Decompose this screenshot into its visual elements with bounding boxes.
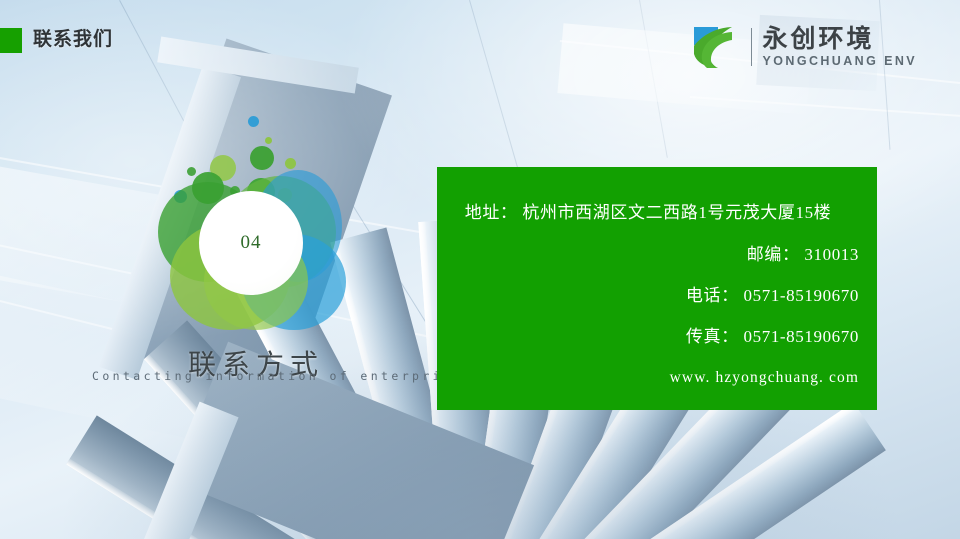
decor-bubble [265, 137, 272, 144]
logo-divider [751, 28, 752, 66]
company-logo: 永创环境 YONGCHUANG ENV [688, 22, 917, 72]
contact-website[interactable]: www. hzyongchuang. com [437, 368, 859, 388]
decor-bubble [187, 167, 196, 176]
header-accent-marker-icon [0, 28, 22, 53]
badge-core-circle: 04 [199, 191, 303, 295]
badge-number: 04 [241, 232, 262, 254]
contact-info-panel: 地址： 杭州市西湖区文二西路1号元茂大厦15楼 邮编： 310013 电话： 0… [437, 167, 877, 410]
page-title: 联系我们 [33, 27, 113, 53]
logo-wordmark: 永创环境 YONGCHUANG ENV [763, 26, 917, 68]
yongchuang-leaf-logo-icon [688, 24, 744, 70]
contact-postcode: 邮编： 310013 [437, 245, 859, 265]
decor-bubble [248, 116, 259, 127]
slide-canvas: 联系我们 永创环境 YONGCHUANG ENV [0, 0, 960, 539]
section-subtitle: Contacting information of enterprise [92, 368, 464, 384]
decor-bubble [250, 146, 274, 170]
logo-name-en: YONGCHUANG ENV [763, 54, 917, 68]
contact-address: 地址： 杭州市西湖区文二西路1号元茂大厦15楼 [437, 203, 859, 223]
contact-fax: 传真： 0571-85190670 [437, 327, 859, 347]
logo-name-cn: 永创环境 [763, 26, 917, 53]
section-badge-graphic: 04 [150, 110, 360, 330]
decor-bubble [285, 158, 296, 169]
contact-phone: 电话： 0571-85190670 [437, 286, 859, 306]
